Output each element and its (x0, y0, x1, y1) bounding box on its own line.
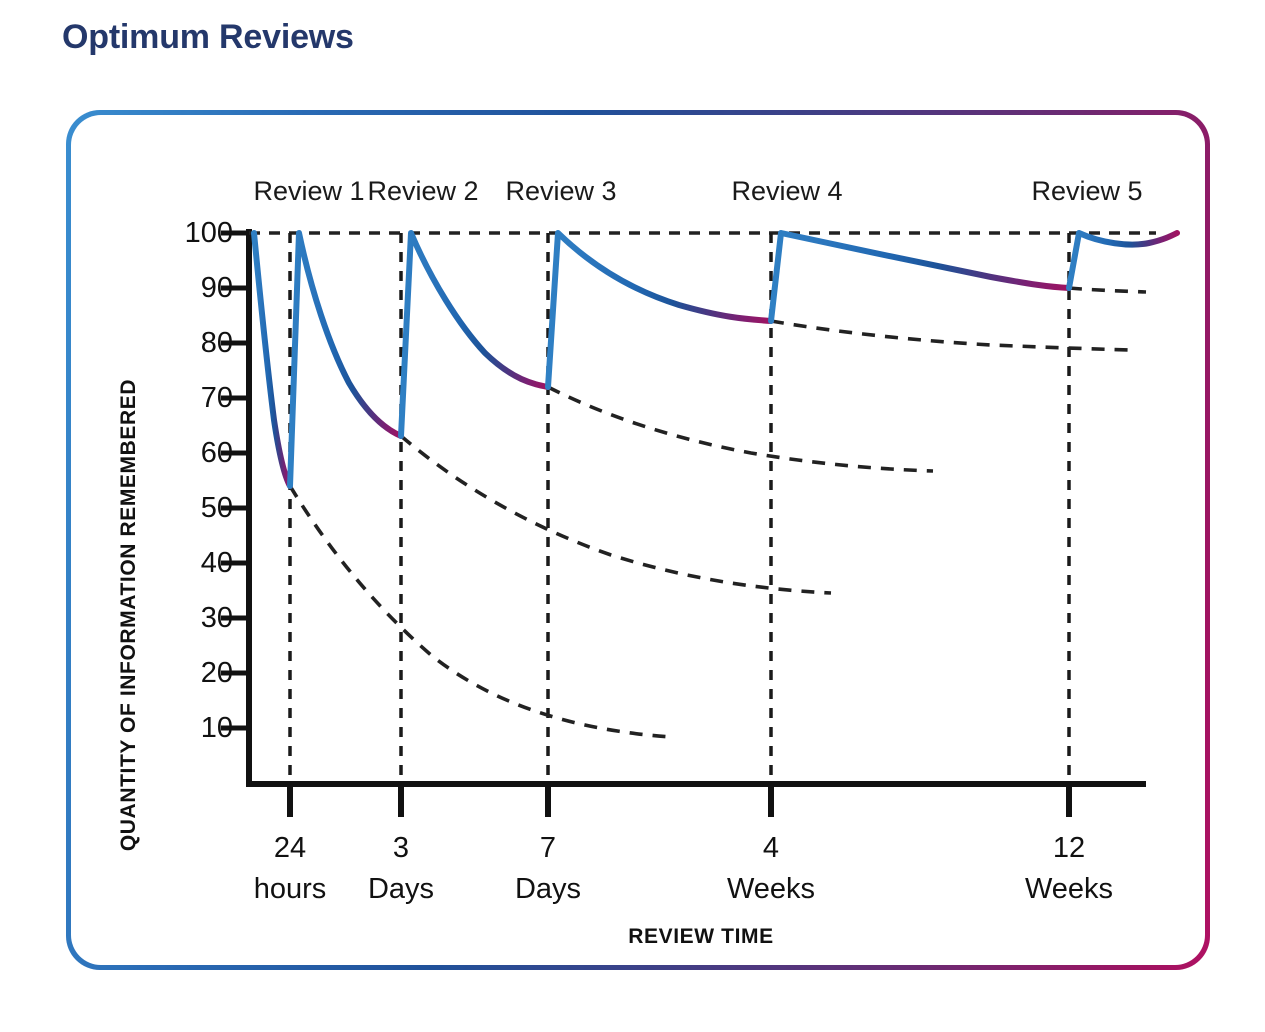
decay-curve-initial (290, 486, 671, 737)
page-title: Optimum Reviews (62, 18, 354, 57)
decay-curve-review2 (548, 387, 933, 471)
x-tick-number-3: 7 (540, 832, 556, 864)
chart-card: Review 1 Review 2 Review 3 Review 4 Revi… (66, 110, 1210, 970)
chart-card-inner: Review 1 Review 2 Review 3 Review 4 Revi… (71, 115, 1205, 965)
y-tick-marks (221, 233, 249, 728)
retention-segment-initial (254, 233, 290, 486)
x-tick-marks (290, 784, 1069, 817)
x-axis-title: REVIEW TIME (628, 925, 773, 948)
decay-curve-review4 (1069, 288, 1146, 292)
x-tick-unit-5: Weeks (1025, 873, 1113, 905)
review-label-2: Review 2 (367, 176, 478, 206)
y-axis-title: QUANTITY OF INFORMATION REMEMBERED (117, 379, 140, 851)
x-tick-unit-1: hours (254, 873, 327, 905)
review-label-5: Review 5 (1031, 176, 1142, 206)
x-tick-unit-2: Days (368, 873, 434, 905)
retention-curve (254, 233, 1177, 486)
retention-segment-review1 (290, 233, 401, 486)
unreviewed-forgetting-curves (290, 288, 1146, 737)
x-tick-number-5: 12 (1053, 832, 1085, 864)
forgetting-curve-chart: Review 1 Review 2 Review 3 Review 4 Revi… (71, 115, 1205, 965)
retention-segment-review2 (401, 233, 548, 436)
x-tick-unit-3: Days (515, 873, 581, 905)
retention-segment-review4 (771, 233, 1069, 321)
x-tick-unit-4: Weeks (727, 873, 815, 905)
page-root: Optimum Reviews Review 1 Review 2 Review… (0, 0, 1265, 1032)
review-label-3: Review 3 (505, 176, 616, 206)
retention-segment-review5 (1069, 233, 1177, 288)
decay-curve-review1 (401, 436, 831, 593)
review-label-4: Review 4 (731, 176, 842, 206)
retention-segment-review3 (548, 233, 771, 387)
x-tick-number-2: 3 (393, 832, 409, 864)
x-tick-number-4: 4 (763, 832, 779, 864)
decay-curve-review3 (771, 321, 1131, 350)
x-tick-number-1: 24 (274, 832, 306, 864)
review-label-1: Review 1 (253, 176, 364, 206)
